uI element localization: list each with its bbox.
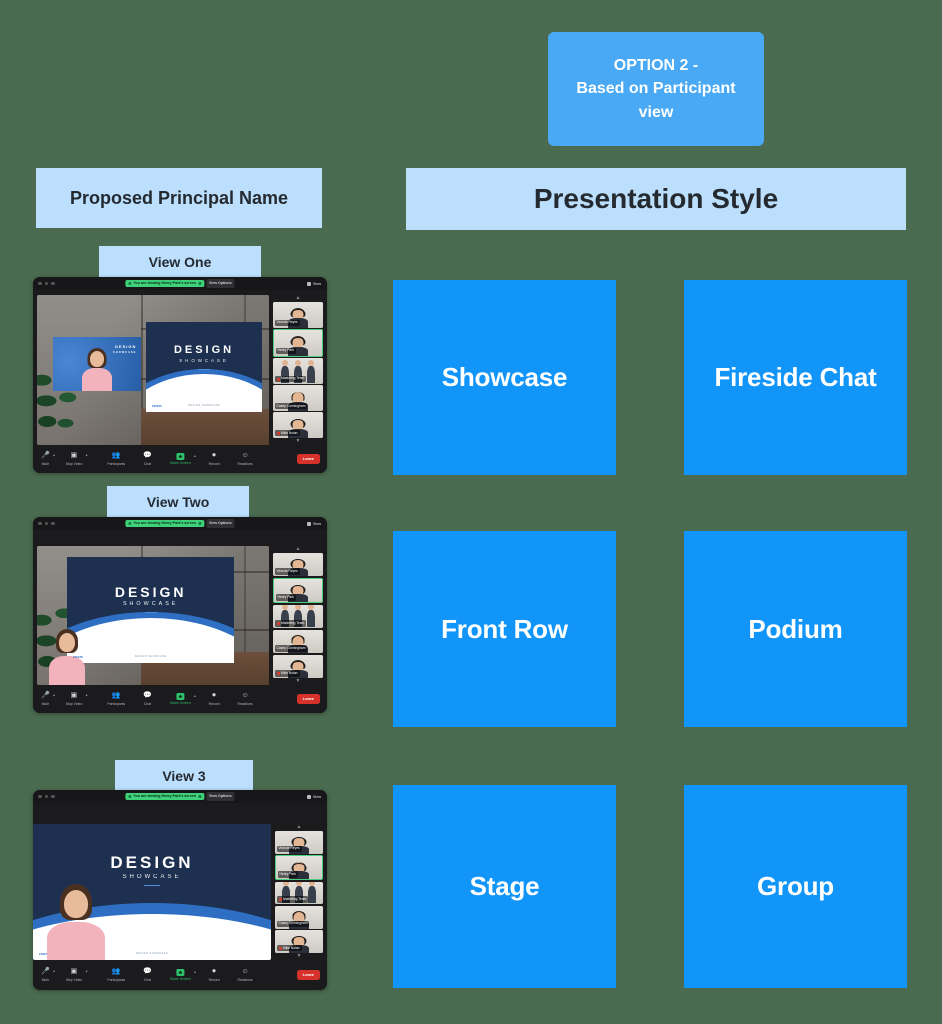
- share-screen-label: Share Screen: [170, 978, 191, 981]
- reactions-label: Reactions: [238, 979, 253, 982]
- participant-name: Mike Nolan: [275, 430, 300, 436]
- speaker-head: [64, 890, 88, 918]
- participant-tile[interactable]: Casey Cunningham: [273, 385, 323, 411]
- option-2-line-3: view: [639, 104, 674, 121]
- participant-name: Henry Park: [276, 594, 297, 600]
- grid-view-icon: [307, 282, 311, 286]
- toolbar-center-group: 👥 Participants 💬 Chat Share Screen ▲ ⏺: [107, 968, 252, 982]
- record-icon: ⏺: [212, 968, 216, 976]
- grid-view-icon: [307, 795, 311, 799]
- window-controls[interactable]: [38, 282, 55, 286]
- slide-rule: [198, 369, 210, 371]
- speaker-card-brand: DESIGN SHOWCASE: [113, 344, 136, 355]
- reactions-button[interactable]: ☺ Reactions: [238, 692, 253, 706]
- group-person: [307, 366, 315, 383]
- participants-label: Participants: [107, 979, 125, 982]
- participant-name: Victoria Reyes: [275, 320, 300, 326]
- scroll-up-icon[interactable]: ▲: [275, 824, 323, 831]
- participant-name-text: Henry Park: [278, 596, 295, 599]
- grid-view-icon: [307, 522, 311, 526]
- participant-name-text: Marketing Team: [283, 898, 306, 901]
- muted-icon: [277, 432, 280, 435]
- muted-icon: [279, 947, 282, 950]
- participant-tiles: Victoria Reyes Henry Park: [273, 553, 323, 678]
- sharing-status-text: You are viewing Henry Park's screen: [133, 795, 196, 799]
- participant-tiles: Victoria Reyes Henry Park: [275, 831, 323, 953]
- participant-name: Casey Cunningham: [277, 921, 310, 927]
- meeting-toolbar: 🎤 Mute ▲ ▣ Stop Video ▲ 👥 Participants: [33, 960, 327, 990]
- participant-tile-active-speaker[interactable]: Henry Park: [275, 855, 323, 880]
- stop-video-button[interactable]: ▣ Stop Video ▲: [66, 452, 83, 466]
- participant-name-text: Henry Park: [280, 873, 297, 876]
- chat-icon: 💬: [143, 968, 152, 976]
- chat-label: Chat: [144, 463, 151, 466]
- participant-name-text: Casey Cunningham: [277, 647, 306, 650]
- option-2-line-1: OPTION 2 -: [614, 57, 698, 74]
- shared-screen-stage: DESIGN SHOWCASE DESIGN SHOWCASE: [37, 295, 269, 445]
- style-option-fireside-chat-label: Fireside Chat: [714, 362, 876, 393]
- speaker-brand-line2: SHOWCASE: [113, 351, 136, 354]
- participant-name: Casey Cunningham: [275, 403, 308, 409]
- option-2-line-2: Based on Participant: [576, 80, 735, 97]
- toolbar-center-group: 👥 Participants 💬 Chat Share Screen ▲ ⏺: [107, 692, 252, 706]
- participant-name-text: Marketing Team: [281, 377, 304, 380]
- meeting-screenshot-view-one: You are viewing Henry Park's screen View…: [33, 277, 327, 473]
- chevron-up-icon[interactable]: ▲: [52, 694, 55, 697]
- floor-area: [141, 409, 269, 445]
- participant-name: Mike Nolan: [275, 670, 300, 676]
- reactions-label: Reactions: [238, 703, 253, 706]
- speaker-head: [90, 351, 104, 367]
- chat-icon: 💬: [143, 692, 152, 700]
- slide-subtitle: SHOWCASE: [67, 602, 234, 607]
- scroll-down-icon[interactable]: ▼: [273, 438, 323, 445]
- share-screen-icon: [176, 693, 184, 700]
- participant-tile-active-speaker[interactable]: Henry Park: [273, 578, 323, 603]
- participant-tile[interactable]: Casey Cunningham: [275, 906, 323, 929]
- chevron-up-icon[interactable]: ▲: [85, 970, 88, 973]
- chevron-up-icon[interactable]: ▲: [52, 454, 55, 457]
- leave-button[interactable]: Leave: [297, 970, 320, 980]
- mute-button[interactable]: 🎤 Mute ▲: [41, 968, 50, 982]
- lock-icon: [198, 522, 201, 525]
- participant-name-text: Casey Cunningham: [277, 405, 306, 408]
- slide-subtitle: SHOWCASE: [146, 359, 262, 363]
- participant-strip[interactable]: ▲ Victoria Reyes: [273, 295, 323, 445]
- meeting-body: DESIGN SHOWCASE zoom DESIGN SHOWCASE ▲: [33, 803, 327, 990]
- slide-wordmark: DESIGN SHOWCASE: [146, 345, 262, 370]
- participant-name-text: Marketing Team: [281, 622, 304, 625]
- style-option-stage-label: Stage: [470, 871, 540, 902]
- camera-icon: ▣: [71, 692, 78, 700]
- reactions-label: Reactions: [238, 463, 253, 466]
- shared-slide: DESIGN SHOWCASE zoom DESIGN SHOWCASE: [33, 824, 271, 960]
- record-icon: ⏺: [212, 452, 216, 460]
- speaker-head: [59, 633, 75, 652]
- stop-video-label: Stop Video: [66, 463, 83, 466]
- shared-slide: DESIGN SHOWCASE zoom DESIGN SHOWCASE: [67, 557, 234, 663]
- participant-name: Victoria Reyes: [277, 846, 302, 852]
- toolbar-left-group: 🎤 Mute ▲ ▣ Stop Video ▲: [41, 452, 82, 466]
- label-view-two-text: View Two: [147, 494, 210, 510]
- style-option-front-row-label: Front Row: [441, 614, 568, 645]
- muted-icon: [277, 622, 280, 625]
- participant-tiles: Victoria Reyes Henry Park: [273, 302, 323, 438]
- stop-video-label: Stop Video: [66, 703, 83, 706]
- header-style-label: Presentation Style: [534, 183, 778, 215]
- participant-tile[interactable]: Victoria Reyes: [273, 553, 323, 576]
- muted-icon: [277, 672, 280, 675]
- style-option-podium-label: Podium: [748, 614, 842, 645]
- style-option-showcase[interactable]: Showcase: [393, 280, 616, 475]
- slide-subtitle: SHOWCASE: [33, 874, 271, 880]
- share-screen-button[interactable]: Share Screen ▲: [170, 969, 191, 982]
- scroll-down-icon[interactable]: ▼: [273, 678, 323, 685]
- share-screen-button[interactable]: Share Screen ▲: [170, 453, 191, 466]
- window-controls[interactable]: [38, 522, 55, 526]
- participant-name-text: Victoria Reyes: [277, 321, 298, 324]
- participant-name: Marketing Team: [277, 896, 309, 902]
- toolbar-center-group: 👥 Participants 💬 Chat Share Screen ▲ ⏺: [107, 452, 252, 466]
- view-options-button[interactable]: View Options: [206, 519, 235, 527]
- style-option-showcase-label: Showcase: [442, 362, 568, 393]
- slide-wordmark: DESIGN SHOWCASE: [67, 585, 234, 614]
- participant-name-text: Mike Nolan: [283, 947, 300, 950]
- slide-footnote: DESIGN SHOWCASE: [67, 655, 234, 658]
- chevron-up-icon[interactable]: ▲: [52, 970, 55, 973]
- muted-icon: [277, 378, 280, 381]
- record-button[interactable]: ⏺ Record: [209, 968, 220, 982]
- chevron-up-icon[interactable]: ▲: [85, 694, 88, 697]
- participant-tile[interactable]: Casey Cunningham: [273, 630, 323, 653]
- leave-button[interactable]: Leave: [297, 454, 320, 464]
- record-label: Record: [209, 703, 220, 706]
- chat-label: Chat: [144, 703, 151, 706]
- participants-button[interactable]: 👥 Participants: [107, 692, 125, 706]
- participants-button[interactable]: 👥 Participants: [107, 968, 125, 982]
- slide-title: DESIGN: [33, 854, 271, 871]
- lock-icon: [198, 795, 201, 798]
- chevron-up-icon[interactable]: ▲: [193, 971, 196, 974]
- speaker-person: [45, 884, 107, 960]
- meeting-toolbar: 🎤 Mute ▲ ▣ Stop Video ▲ 👥 Participants: [33, 685, 327, 713]
- share-screen-icon: [176, 969, 184, 976]
- participant-tile-active-speaker[interactable]: Henry Park: [273, 329, 323, 357]
- record-icon: ⏺: [212, 692, 216, 700]
- screen-share-icon: [128, 795, 131, 798]
- scroll-up-icon[interactable]: ▲: [273, 295, 323, 302]
- participant-name: Marketing Team: [275, 376, 307, 382]
- slide-wordmark: DESIGN SHOWCASE: [33, 854, 271, 887]
- camera-icon: ▣: [71, 968, 78, 976]
- sharing-status-pill: You are viewing Henry Park's screen: [125, 793, 204, 801]
- mute-button[interactable]: 🎤 Mute ▲: [41, 452, 50, 466]
- share-screen-label: Share Screen: [170, 702, 191, 705]
- meeting-body: DESIGN SHOWCASE DESIGN SHOWCASE: [33, 290, 327, 473]
- mute-button[interactable]: 🎤 Mute ▲: [41, 692, 50, 706]
- option-2-text: OPTION 2 - Based on Participant view: [576, 54, 735, 124]
- camera-icon: ▣: [71, 452, 78, 460]
- shared-slide: DESIGN SHOWCASE zoom DESIGN SHOWCASE: [146, 322, 262, 412]
- sharing-status-pill: You are viewing Henry Park's screen: [125, 520, 204, 528]
- mute-label: Mute: [42, 463, 50, 466]
- participants-label: Participants: [107, 703, 125, 706]
- option-2-card: OPTION 2 - Based on Participant view: [548, 32, 764, 146]
- share-screen-label: Share Screen: [170, 462, 191, 465]
- participant-name-text: Mike Nolan: [281, 432, 298, 435]
- style-option-podium[interactable]: Podium: [684, 531, 907, 727]
- chevron-up-icon[interactable]: ▲: [193, 455, 196, 458]
- microphone-icon: 🎤: [41, 692, 50, 700]
- view-toggle[interactable]: View: [307, 522, 321, 526]
- view-options-button[interactable]: View Options: [206, 279, 235, 287]
- participant-tile-group[interactable]: Marketing Team: [273, 358, 323, 384]
- slide-title: DESIGN: [146, 345, 262, 356]
- people-icon: 👥: [112, 452, 121, 460]
- slide-footnote: DESIGN SHOWCASE: [146, 404, 262, 407]
- scroll-up-icon[interactable]: ▲: [273, 546, 323, 553]
- muted-icon: [279, 898, 282, 901]
- label-view-one: View One: [99, 246, 261, 278]
- screen-share-banner: You are viewing Henry Park's screen View…: [125, 792, 234, 800]
- participant-tile[interactable]: Mike Nolan: [273, 655, 323, 678]
- diagram-canvas: OPTION 2 - Based on Participant view Pro…: [0, 0, 942, 1024]
- chevron-up-icon[interactable]: ▲: [85, 454, 88, 457]
- scroll-down-icon[interactable]: ▼: [275, 953, 323, 960]
- reactions-icon: ☺: [241, 452, 248, 460]
- label-view-3: View 3: [115, 760, 253, 792]
- style-option-stage[interactable]: Stage: [393, 785, 616, 988]
- chevron-up-icon[interactable]: ▲: [193, 695, 196, 698]
- leave-button[interactable]: Leave: [297, 694, 320, 704]
- group-person: [307, 610, 315, 627]
- window-controls[interactable]: [38, 795, 55, 799]
- participant-tile-group[interactable]: Marketing Team: [273, 605, 323, 628]
- record-button[interactable]: ⏺ Record: [209, 452, 220, 466]
- slide-rule: [145, 612, 157, 614]
- chat-icon: 💬: [143, 452, 152, 460]
- participants-button[interactable]: 👥 Participants: [107, 452, 125, 466]
- speaker-torso: [49, 656, 85, 685]
- speaker-torso: [47, 922, 105, 960]
- participant-tile[interactable]: Victoria Reyes: [275, 831, 323, 854]
- style-option-front-row[interactable]: Front Row: [393, 531, 616, 727]
- view-options-button[interactable]: View Options: [206, 792, 235, 800]
- participant-strip[interactable]: ▲ Victoria Reyes: [275, 824, 323, 960]
- reactions-button[interactable]: ☺ Reactions: [238, 452, 253, 466]
- header-principal-label: Proposed Principal Name: [70, 188, 288, 209]
- sharing-status-text: You are viewing Henry Park's screen: [133, 282, 196, 286]
- view-toggle-label: View: [313, 795, 321, 799]
- lock-icon: [198, 282, 201, 285]
- participant-name-text: Mike Nolan: [281, 672, 298, 675]
- participant-name: Victoria Reyes: [275, 568, 300, 574]
- view-toggle[interactable]: View: [307, 795, 321, 799]
- stop-video-label: Stop Video: [66, 979, 83, 982]
- microphone-icon: 🎤: [41, 452, 50, 460]
- record-label: Record: [209, 979, 220, 982]
- participant-name-text: Henry Park: [278, 349, 295, 352]
- chat-label: Chat: [144, 979, 151, 982]
- stop-video-button[interactable]: ▣ Stop Video ▲: [66, 968, 83, 982]
- meeting-toolbar: 🎤 Mute ▲ ▣ Stop Video ▲ 👥 Participants: [33, 445, 327, 473]
- participant-name: Henry Park: [276, 348, 297, 354]
- reactions-icon: ☺: [241, 692, 248, 700]
- window-title-bar: You are viewing Henry Park's screen View…: [33, 277, 327, 290]
- participant-name: Casey Cunningham: [275, 645, 308, 651]
- share-screen-button[interactable]: Share Screen ▲: [170, 693, 191, 706]
- record-label: Record: [209, 463, 220, 466]
- label-view-one-text: View One: [149, 254, 212, 270]
- reactions-icon: ☺: [241, 968, 248, 976]
- participant-tile[interactable]: Victoria Reyes: [273, 302, 323, 328]
- screen-share-icon: [128, 282, 131, 285]
- speaker-video-card: DESIGN SHOWCASE: [53, 337, 141, 391]
- toolbar-left-group: 🎤 Mute ▲ ▣ Stop Video ▲: [41, 692, 82, 706]
- chat-button[interactable]: 💬 Chat: [143, 692, 152, 706]
- meeting-body: DESIGN SHOWCASE zoom DESIGN SHOWCASE ▲: [33, 530, 327, 713]
- participant-tile-group[interactable]: Marketing Team: [275, 882, 323, 905]
- style-option-group-label: Group: [757, 871, 834, 902]
- header-proposed-principal-name: Proposed Principal Name: [36, 168, 322, 228]
- sharing-status-pill: You are viewing Henry Park's screen: [125, 280, 204, 288]
- screen-share-banner: You are viewing Henry Park's screen View…: [125, 519, 234, 527]
- participant-tile[interactable]: Mike Nolan: [273, 412, 323, 438]
- sharing-status-text: You are viewing Henry Park's screen: [133, 522, 196, 526]
- participant-name-text: Victoria Reyes: [279, 847, 300, 850]
- mute-label: Mute: [42, 979, 50, 982]
- participant-name-text: Casey Cunningham: [279, 922, 308, 925]
- participant-name: Henry Park: [278, 871, 299, 877]
- header-presentation-style: Presentation Style: [406, 168, 906, 230]
- participant-name: Mike Nolan: [277, 945, 302, 951]
- label-view-3-text: View 3: [162, 768, 205, 784]
- share-screen-icon: [176, 453, 184, 460]
- chat-button[interactable]: 💬 Chat: [143, 968, 152, 982]
- reactions-button[interactable]: ☺ Reactions: [238, 968, 253, 982]
- style-option-group[interactable]: Group: [684, 785, 907, 988]
- record-button[interactable]: ⏺ Record: [209, 692, 220, 706]
- toolbar-left-group: 🎤 Mute ▲ ▣ Stop Video ▲: [41, 968, 82, 982]
- slide-title: DESIGN: [67, 585, 234, 599]
- view-toggle[interactable]: View: [307, 282, 321, 286]
- view-toggle-label: View: [313, 522, 321, 526]
- screen-share-icon: [128, 522, 131, 525]
- style-option-fireside-chat[interactable]: Fireside Chat: [684, 280, 907, 475]
- participant-strip[interactable]: ▲ Victoria Reyes: [273, 546, 323, 685]
- view-toggle-label: View: [313, 282, 321, 286]
- speaker-torso: [82, 368, 112, 391]
- shared-screen-stage: DESIGN SHOWCASE zoom DESIGN SHOWCASE: [37, 546, 269, 685]
- participant-tile[interactable]: Mike Nolan: [275, 930, 323, 953]
- slide-rule: [144, 885, 160, 887]
- participant-name: Marketing Team: [275, 620, 307, 626]
- meeting-screenshot-view-two: You are viewing Henry Park's screen View…: [33, 517, 327, 713]
- shared-screen-stage: DESIGN SHOWCASE zoom DESIGN SHOWCASE: [33, 824, 271, 960]
- speaker-person: [80, 348, 114, 391]
- chat-button[interactable]: 💬 Chat: [143, 452, 152, 466]
- label-view-two: View Two: [107, 486, 249, 518]
- window-title-bar: You are viewing Henry Park's screen View…: [33, 517, 327, 530]
- participant-name-text: Victoria Reyes: [277, 570, 298, 573]
- people-icon: 👥: [112, 968, 121, 976]
- people-icon: 👥: [112, 692, 121, 700]
- speaker-brand-line1: DESIGN: [115, 344, 136, 349]
- screen-share-banner: You are viewing Henry Park's screen View…: [125, 279, 234, 287]
- participants-label: Participants: [107, 463, 125, 466]
- stop-video-button[interactable]: ▣ Stop Video ▲: [66, 692, 83, 706]
- microphone-icon: 🎤: [41, 968, 50, 976]
- group-person: [308, 886, 316, 903]
- window-title-bar: You are viewing Henry Park's screen View…: [33, 790, 327, 803]
- meeting-screenshot-view-3: You are viewing Henry Park's screen View…: [33, 790, 327, 990]
- mute-label: Mute: [42, 703, 50, 706]
